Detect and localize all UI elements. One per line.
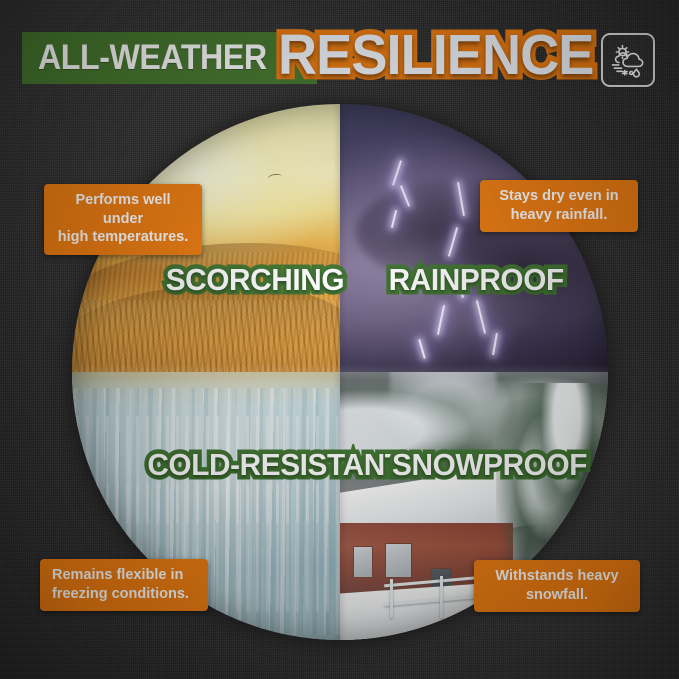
infographic-root: ALL-WEATHER RESILIENCE xyxy=(0,0,679,679)
quadrant-rainproof-image xyxy=(340,104,608,372)
callout-rainproof: Stays dry even in heavy rainfall. xyxy=(480,180,638,232)
callout-scorching: Performs well under high temperatures. xyxy=(44,184,202,255)
header: ALL-WEATHER RESILIENCE xyxy=(0,28,679,90)
label-rainproof: RAINPROOF xyxy=(389,262,564,298)
label-snowproof: SNOWPROOF xyxy=(392,447,587,483)
weather-mixed-icon xyxy=(601,33,655,87)
title-all-weather: ALL-WEATHER xyxy=(38,38,267,78)
title-resilience: RESILIENCE xyxy=(278,22,593,88)
label-cold-resistant: COLD-RESISTANT xyxy=(147,447,402,483)
callout-snowproof: Withstands heavy snowfall. xyxy=(474,560,640,612)
label-scorching: SCORCHING xyxy=(166,262,344,298)
title-green-band: ALL-WEATHER xyxy=(22,32,317,84)
callout-cold-resistant: Remains flexible in freezing conditions. xyxy=(40,559,208,611)
